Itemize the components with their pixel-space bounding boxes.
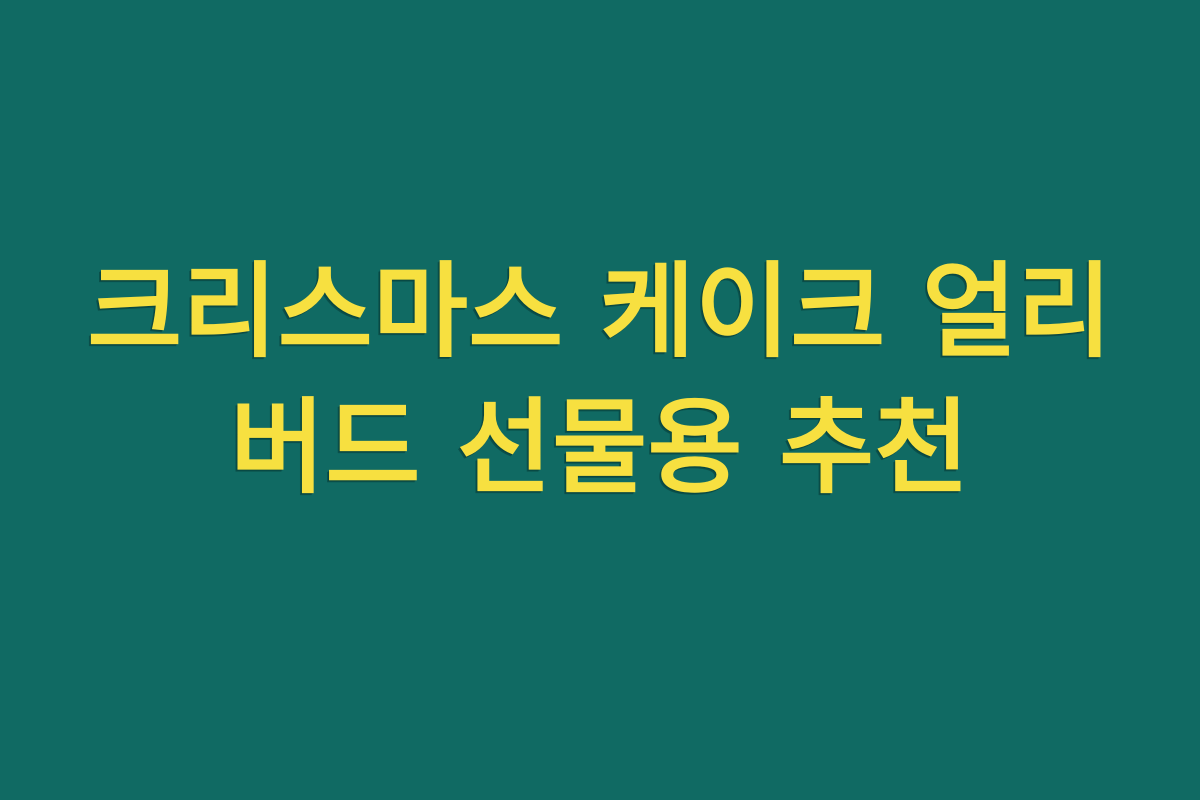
headline-line-2: 버드 선물용 추천	[0, 380, 1200, 516]
headline-line-1: 크리스마스 케이크 얼리	[0, 244, 1200, 380]
headline-block: 크리스마스 케이크 얼리 버드 선물용 추천	[0, 244, 1200, 516]
banner-canvas: 크리스마스 케이크 얼리 버드 선물용 추천	[0, 0, 1200, 800]
